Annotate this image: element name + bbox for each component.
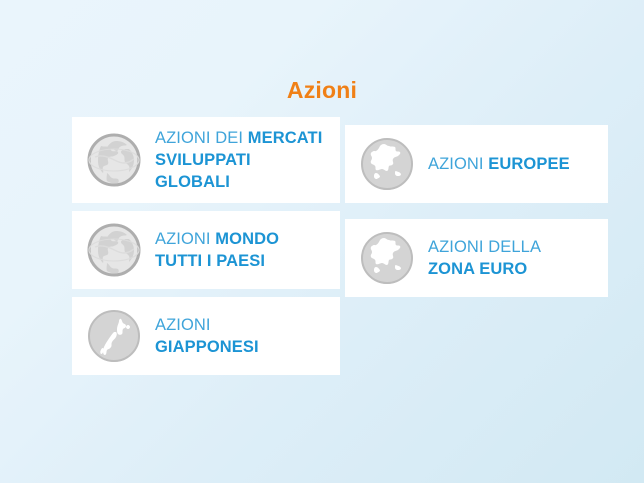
card-label: AZIONI DEI MERCATI SVILUPPATI GLOBALI: [145, 127, 330, 193]
card-label-regular: AZIONI: [428, 155, 484, 173]
card-label-regular: AZIONI DEI: [155, 129, 243, 147]
card-label-bold: GIAPPONESI: [155, 338, 259, 356]
card-label-regular: AZIONI: [155, 316, 211, 334]
card-label: AZIONI MONDO TUTTI I PAESI: [145, 228, 330, 272]
card-azioni-giapponesi[interactable]: AZIONI GIAPPONESI: [72, 297, 340, 375]
card-label: AZIONI DELLA ZONA EURO: [418, 236, 598, 280]
card-column-right: AZIONI EUROPEE: [345, 117, 608, 305]
card-label-bold: EUROPEE: [488, 155, 569, 173]
globe-europe-icon: [356, 133, 418, 195]
card-label-regular: AZIONI: [155, 230, 211, 248]
card-azioni-della-zona-euro[interactable]: AZIONI DELLA ZONA EURO: [345, 219, 608, 297]
card-azioni-mercati-sviluppati-globali[interactable]: AZIONI DEI MERCATI SVILUPPATI GLOBALI: [72, 117, 340, 203]
card-label: AZIONI GIAPPONESI: [145, 314, 330, 358]
card-column-left: AZIONI DEI MERCATI SVILUPPATI GLOBALI: [72, 117, 340, 383]
card-label: AZIONI EUROPEE: [418, 153, 598, 175]
globe-japan-icon: [83, 305, 145, 367]
globe-americas-icon: [83, 219, 145, 281]
card-azioni-europee[interactable]: AZIONI EUROPEE: [345, 125, 608, 203]
page-title: Azioni: [0, 76, 644, 104]
globe-europe-icon: [356, 227, 418, 289]
card-label-bold: ZONA EURO: [428, 260, 527, 278]
card-azioni-mondo-tutti-i-paesi[interactable]: AZIONI MONDO TUTTI I PAESI: [72, 211, 340, 289]
card-label-regular: AZIONI DELLA: [428, 238, 541, 256]
page-root: Azioni: [0, 0, 644, 483]
globe-americas-icon: [83, 129, 145, 191]
